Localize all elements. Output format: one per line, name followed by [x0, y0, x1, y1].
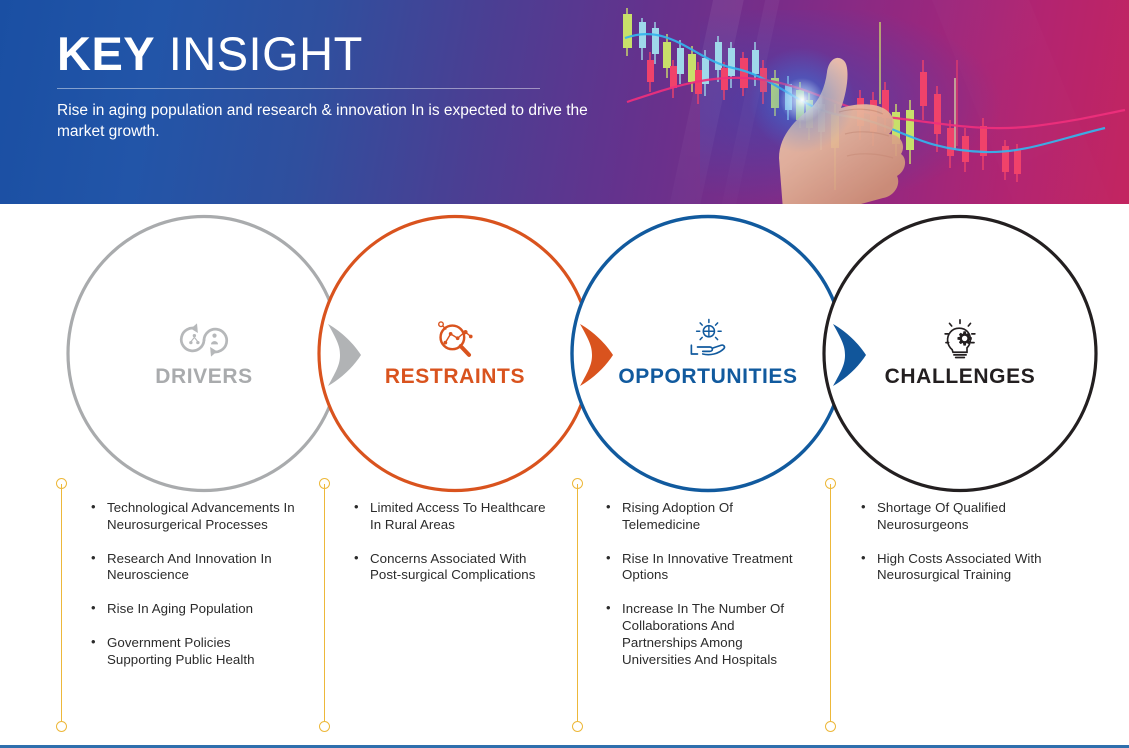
page-subtitle: Rise in aging population and research & … — [57, 100, 602, 142]
page-title: KEY INSIGHT — [57, 26, 602, 82]
pin-knob-bottom — [825, 721, 836, 732]
bullet-list: Shortage Of Qualified Neurosurgeons High… — [855, 500, 1065, 584]
infographic-page: KEY INSIGHT Rise in aging population and… — [0, 0, 1129, 748]
page-title-rest: INSIGHT — [155, 27, 363, 80]
lightbulb-gear-icon — [932, 318, 988, 362]
pin-stem — [324, 484, 325, 726]
stage-label-restraints: RESTRAINTS — [385, 365, 525, 389]
pin-knob-bottom — [56, 721, 67, 732]
header-text-block: KEY INSIGHT Rise in aging population and… — [57, 26, 602, 142]
page-title-bold: KEY — [57, 27, 155, 80]
bullet-list: Technological Advancements In Neurosurge… — [85, 500, 295, 669]
stage-drivers[interactable]: DRIVERS — [64, 213, 344, 494]
list-item: Government Policies Supporting Public He… — [85, 635, 295, 669]
list-item: Technological Advancements In Neurosurge… — [85, 500, 295, 534]
stage-label-opportunities: OPPORTUNITIES — [618, 365, 797, 389]
list-item: Limited Access To Healthcare In Rural Ar… — [348, 500, 558, 534]
connector-pin — [825, 478, 837, 732]
header-banner: KEY INSIGHT Rise in aging population and… — [0, 0, 1129, 204]
list-item: Concerns Associated With Post-surgical C… — [348, 551, 558, 585]
list-item: Rise In Aging Population — [85, 601, 295, 618]
list-item: Rising Adoption Of Telemedicine — [600, 500, 810, 534]
pin-stem — [577, 484, 578, 726]
title-divider — [57, 88, 540, 89]
list-item: Research And Innovation In Neuroscience — [85, 551, 295, 585]
banner-light-streak — [927, 0, 1123, 204]
hand-pointing-icon — [735, 40, 925, 204]
bullet-column-drivers: Technological Advancements In Neurosurge… — [85, 500, 295, 686]
chevron-right-icon — [580, 324, 620, 386]
stage-circle-row: DRIVERS — [0, 204, 1129, 494]
list-item: Shortage Of Qualified Neurosurgeons — [855, 500, 1065, 534]
connector-pin — [56, 478, 68, 732]
bullet-list: Rising Adoption Of Telemedicine Rise In … — [600, 500, 810, 668]
banner-light-streak — [711, 0, 787, 204]
chevron-right-icon — [833, 324, 873, 386]
list-item: High Costs Associated With Neurosurgical… — [855, 551, 1065, 585]
list-item: Increase In The Number Of Collaborations… — [600, 601, 810, 668]
hand-medical-cross-icon — [680, 318, 736, 362]
bullet-column-opportunities: Rising Adoption Of Telemedicine Rise In … — [600, 500, 810, 685]
touch-spark-glow — [742, 40, 862, 160]
banner-glow — [700, 10, 1030, 204]
magnifier-network-icon — [427, 318, 483, 362]
connector-pin — [572, 478, 584, 732]
banner-light-streak — [659, 0, 751, 204]
bullet-column-restraints: Limited Access To Healthcare In Rural Ar… — [348, 500, 558, 601]
flow-area: DRIVERS — [0, 204, 1129, 748]
connector-pin — [319, 478, 331, 732]
pin-stem — [61, 484, 62, 726]
pin-knob-bottom — [319, 721, 330, 732]
cycle-arrows-icon — [176, 318, 232, 362]
pin-stem — [830, 484, 831, 726]
bullet-list: Limited Access To Healthcare In Rural Ar… — [348, 500, 558, 584]
list-item: Rise In Innovative Treatment Options — [600, 551, 810, 585]
chevron-right-icon — [328, 324, 368, 386]
pin-knob-bottom — [572, 721, 583, 732]
candlestick-chart-icon — [585, 0, 1129, 204]
stage-label-challenges: CHALLENGES — [885, 365, 1036, 389]
stage-label-drivers: DRIVERS — [155, 365, 253, 389]
bullet-column-challenges: Shortage Of Qualified Neurosurgeons High… — [855, 500, 1065, 601]
